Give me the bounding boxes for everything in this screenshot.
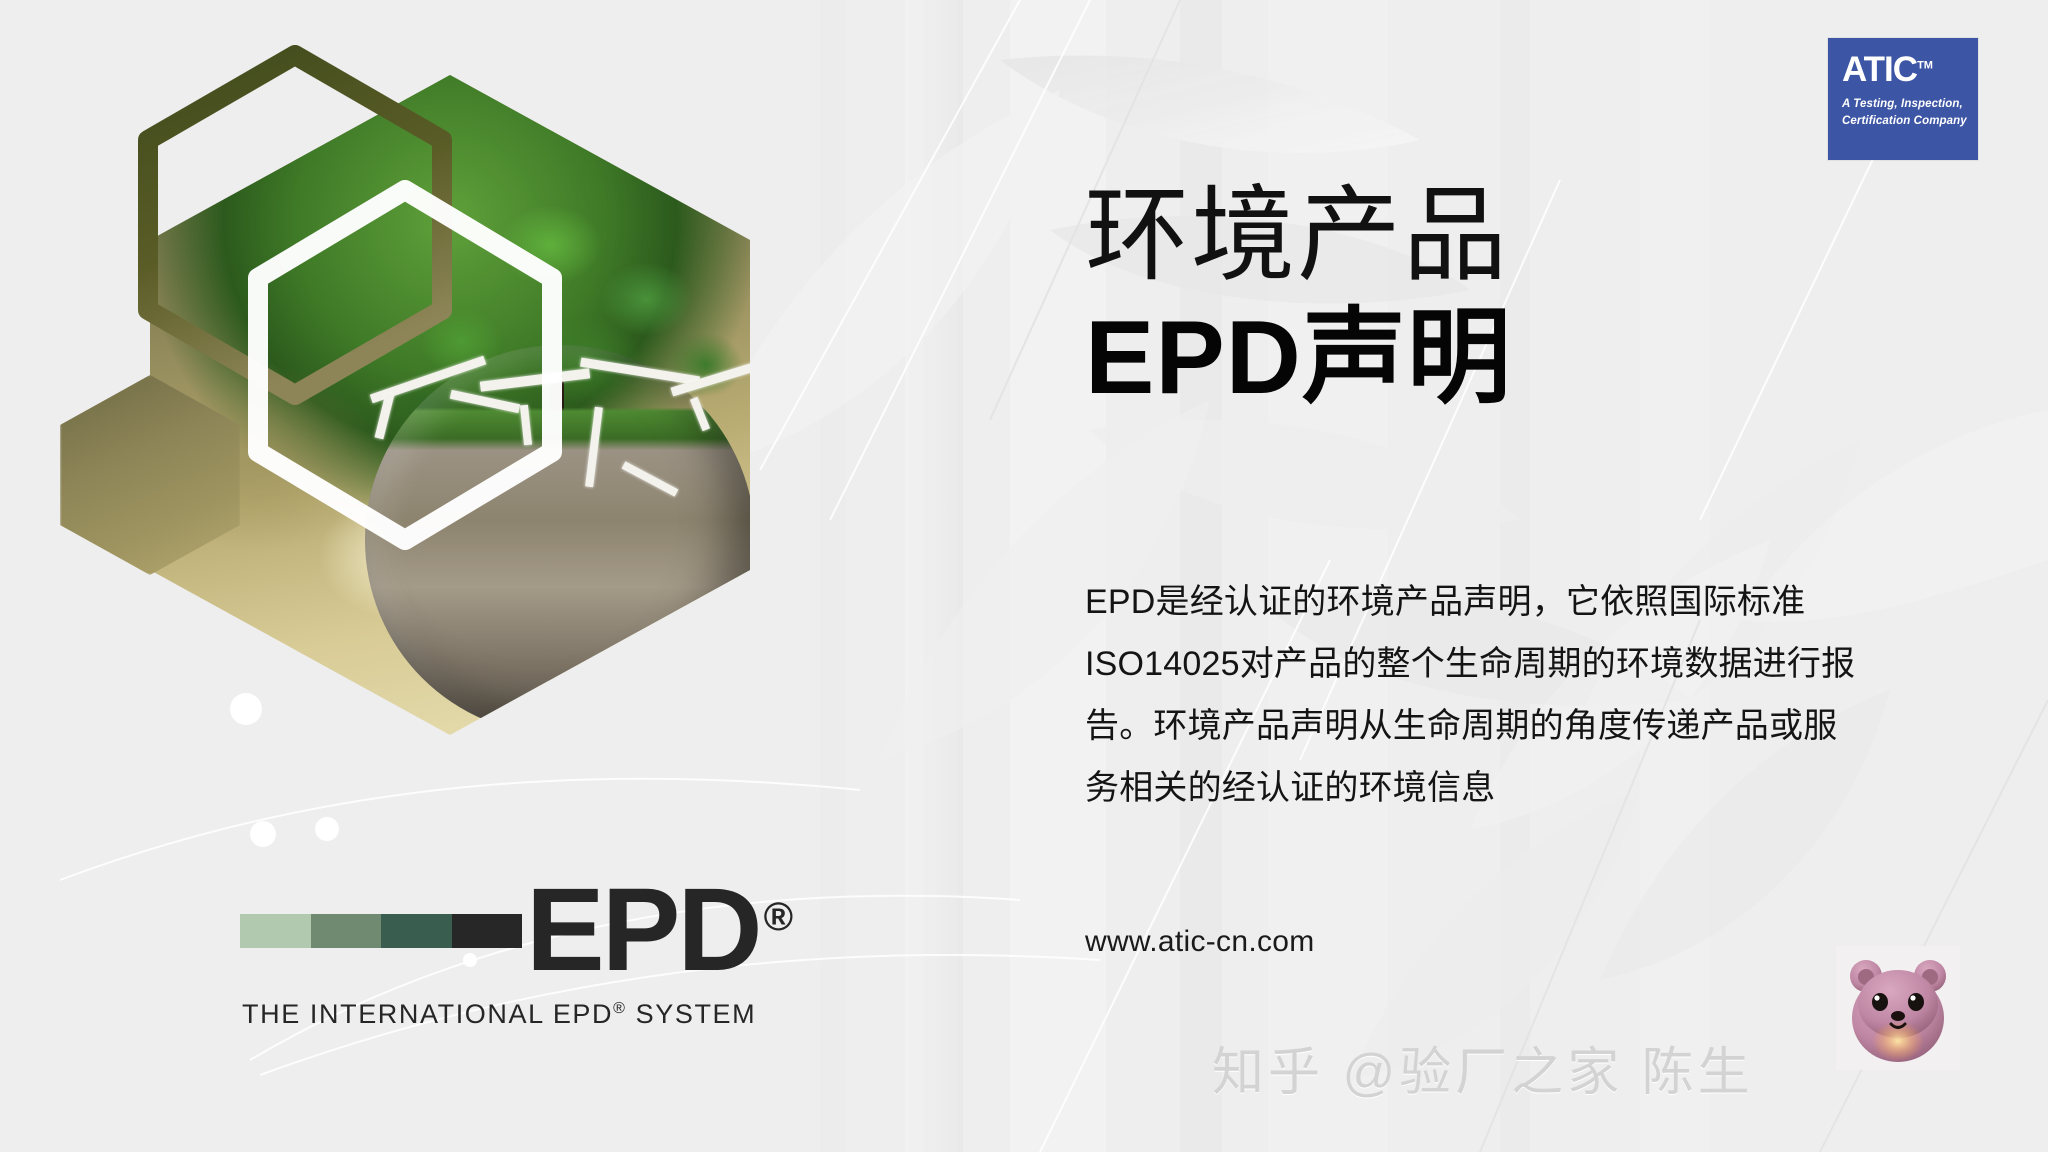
atic-wordmark-text: ATIC — [1842, 50, 1917, 89]
epd-tagline: THE INTERNATIONAL EPD® SYSTEM — [242, 999, 790, 1030]
zhihu-watermark-text: 知乎 @验厂之家 陈生 — [1212, 1030, 1754, 1105]
epd-tagline-registered-icon: ® — [613, 1000, 626, 1017]
body-line-1: EPD是经认证的环境产品声明，它依照国际标准 — [1085, 572, 1940, 634]
epd-tagline-part1: THE INTERNATIONAL EPD — [242, 999, 613, 1029]
atic-tagline-line1: A Testing, Inspection, — [1842, 96, 1978, 113]
body-line-4: 务相关的经认证的环境信息 — [1085, 758, 1940, 820]
slide-canvas: EPD® THE INTERNATIONAL EPD® SYSTEM ATICT… — [0, 0, 2048, 1152]
title-line-2: EPD声明 — [1085, 300, 1512, 416]
atic-trademark-icon: TM — [1917, 59, 1933, 71]
atic-wordmark: ATICTM — [1842, 52, 1978, 87]
epd-bar-1 — [240, 914, 311, 948]
hexagon-outline-white-decoration — [240, 180, 570, 550]
epd-logo-row: EPD® — [240, 880, 790, 981]
epd-color-bars — [240, 914, 522, 948]
body-line-2: ISO14025对产品的整个生命周期的环境数据进行报 — [1085, 634, 1940, 696]
pink-bear-avatar — [1836, 946, 1960, 1070]
body-line-3: 告。环境产品声明从生命周期的角度传递产品或服 — [1085, 696, 1940, 758]
epd-bar-2 — [311, 914, 382, 948]
epd-bar-3 — [381, 914, 452, 948]
atic-tagline: A Testing, Inspection, Certification Com… — [1842, 96, 1978, 129]
hero-hexagon-photo — [40, 20, 780, 700]
atic-tagline-line2: Certification Company — [1842, 113, 1978, 130]
registered-trademark-icon: ® — [764, 895, 790, 939]
epd-logo: EPD® THE INTERNATIONAL EPD® SYSTEM — [240, 880, 790, 1030]
website-url[interactable]: www.atic-cn.com — [1085, 925, 1315, 959]
epd-bar-4 — [452, 914, 523, 948]
title-line-1: 环境产品 — [1085, 178, 1512, 294]
page-title: 环境产品 EPD声明 — [1085, 178, 1512, 417]
epd-tagline-part2: SYSTEM — [627, 999, 757, 1029]
atic-logo: ATICTM A Testing, Inspection, Certificat… — [1828, 38, 1978, 160]
epd-wordmark-text: EPD — [526, 864, 760, 996]
body-paragraph: EPD是经认证的环境产品声明，它依照国际标准 ISO14025对产品的整个生命周… — [1085, 572, 1940, 820]
epd-wordmark: EPD® — [526, 880, 790, 981]
